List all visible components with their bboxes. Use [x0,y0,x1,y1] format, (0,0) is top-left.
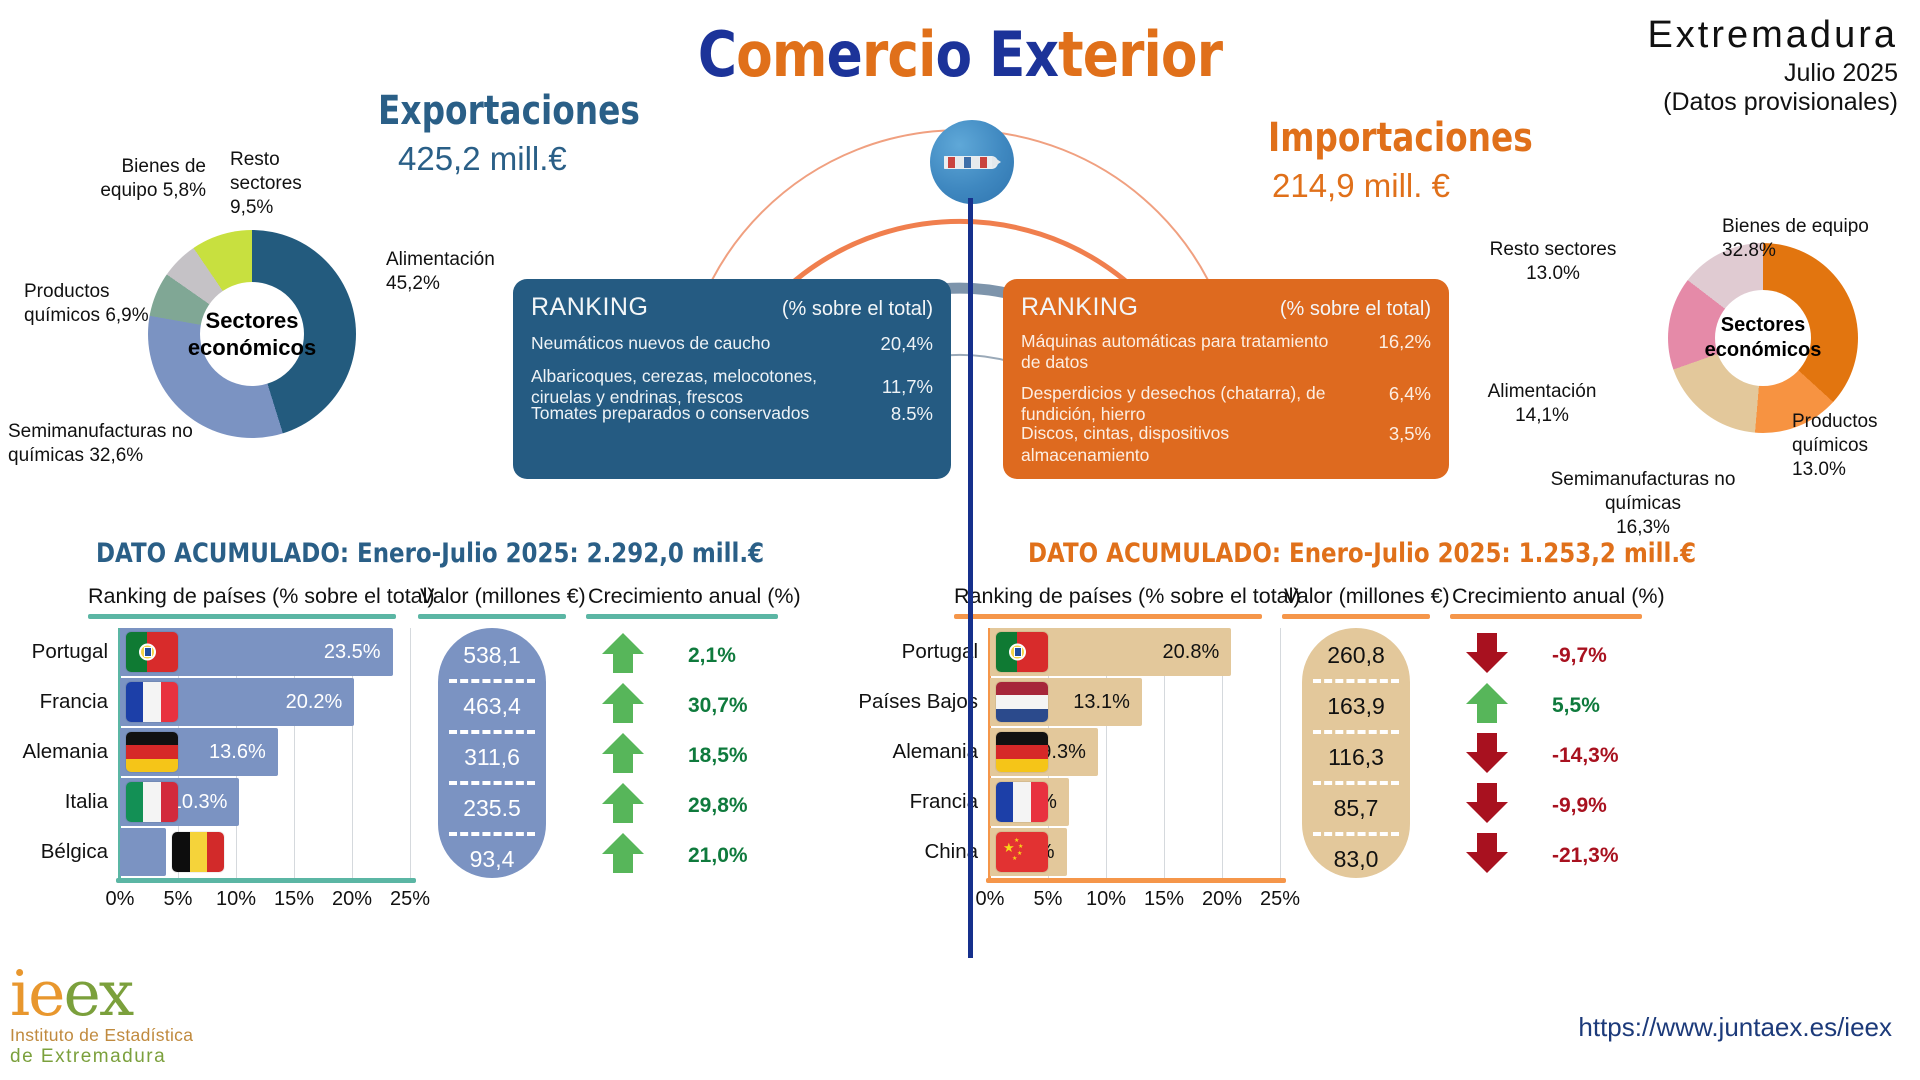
pill-divider [449,730,535,734]
donut-center-line1: Sectores [1721,314,1806,336]
col-rule [418,614,566,619]
growth-row: 21,0% [600,830,748,881]
exports-country-barchart: Portugal 23.5% Francia 20.2% Alemania 13… [0,628,420,890]
donut-label-quimicos: Productos químicos13.0% [1792,410,1920,481]
donut-label-resto: Resto sectores13.0% [1468,238,1638,286]
country-value: 85,7 [1334,795,1379,822]
axis-tick: 15% [1144,888,1184,911]
ranking-row: Tomates preparados o conservados 8.5% [531,403,933,425]
exports-value-pill: 538,1463,4311,6235.593,4 [438,628,546,878]
col-rule [954,614,1262,619]
country-label: Portugal [902,640,978,664]
donut-center-line1: Sectores [206,308,299,333]
arrow-up-icon [600,630,646,681]
axis-tick: 10% [1086,888,1126,911]
axis-tick: 15% [274,888,314,911]
growth-value: 21,0% [688,844,748,868]
growth-value: 30,7% [688,694,748,718]
x-axis [116,878,416,883]
exports-title: Exportaciones [378,88,640,134]
exports-total-value: 425,2 mill.€ [398,140,567,178]
logo-line2: de Extremadura [10,1046,193,1068]
growth-row: 30,7% [600,680,748,731]
flag-netherlands [996,682,1048,722]
arrow-up-icon [600,780,646,831]
pill-divider [1313,781,1399,785]
donut-label-alimentacion: Alimentación14,1% [1462,380,1622,428]
region-note: (Datos provisionales) [1647,88,1898,117]
ranking-subtitle: (% sobre el total) [782,298,933,321]
growth-value: -9,7% [1552,644,1607,668]
country-label: Bélgica [41,840,108,864]
country-label: Portugal [32,640,108,664]
pill-divider [449,832,535,836]
growth-value: 29,8% [688,794,748,818]
country-label: Países Bajos [858,690,978,714]
country-value: 116,3 [1328,744,1384,771]
gridline [1280,628,1281,878]
table-row: Alemania 13.6% [120,728,410,776]
region-period: Julio 2025 [1647,59,1898,88]
col-rule [88,614,396,619]
axis-tick: 20% [332,888,372,911]
country-value: 83,0 [1334,846,1379,873]
pill-divider [449,781,535,785]
region-block: Extremadura Julio 2025 (Datos provisiona… [1647,14,1898,117]
donut-label-semimanufacturas: Semimanufacturas no químicas 32,6% [8,420,218,468]
growth-value: 2,1% [688,644,736,668]
country-value: 93,4 [470,846,515,873]
imports-country-barchart: Portugal 20.8% Países Bajos 13.1% Aleman… [870,628,1290,890]
growth-row: -21,3% [1464,830,1619,881]
col-rule [1282,614,1430,619]
country-value: 463,4 [463,693,521,720]
growth-value: 5,5% [1552,694,1600,718]
col-head-growth: Crecimiento anual (%) [588,584,801,609]
country-value: 260,8 [1327,642,1385,669]
country-bar [120,828,166,876]
cargo-ship-icon [930,120,1014,204]
arrow-up-icon [600,680,646,731]
donut-center-line2: económicos [1705,339,1822,361]
country-value: 235.5 [463,795,521,822]
ranking-subtitle: (% sobre el total) [1280,298,1431,321]
ieex-logo: ieex Instituto de Estadística de Extrema… [10,964,193,1068]
arrow-down-icon [1464,630,1510,681]
donut-label-resto: Resto sectores 9,5% [230,148,340,219]
arrow-down-icon [1464,830,1510,881]
axis-tick: 25% [1260,888,1300,911]
table-row: Francia 20.2% [120,678,410,726]
infographic-page: Comercio Exterior Extremadura Julio 2025… [0,0,1920,1080]
pill-divider [1313,730,1399,734]
col-head-ranking: Ranking de países (% sobre el total) [88,584,435,609]
donut-label-bienes-equipo: Bienes de equipo 5,8% [86,155,206,203]
donut-label-semimanufacturas: Semimanufacturas no químicas16,3% [1518,468,1768,539]
pill-divider [449,679,535,683]
page-title: Comercio Exterior [134,18,1785,91]
flag-france [996,782,1048,822]
country-label: Francia [40,690,108,714]
imports-title: Importaciones [1268,115,1533,161]
growth-value: 18,5% [688,744,748,768]
col-head-ranking: Ranking de países (% sobre el total) [954,584,1301,609]
logo-mark: ieex [10,964,193,1024]
arrow-up-icon [600,730,646,781]
col-rule [1450,614,1642,619]
growth-row: -9,7% [1464,630,1607,681]
imports-ranking-box: RANKING (% sobre el total) Máquinas auto… [1003,279,1449,479]
table-row: China 6.6% ★ ★ ★ ★ ★ [990,828,1280,876]
flag-germany [126,732,178,772]
table-row: Bélgica [120,828,410,876]
ranking-row: Máquinas automáticas para tratamiento de… [1021,331,1431,374]
flag-china: ★ ★ ★ ★ ★ [996,832,1048,872]
arrow-up-icon [600,830,646,881]
country-label: Alemania [23,740,108,764]
ranking-title: RANKING [531,293,648,322]
growth-value: -21,3% [1552,844,1619,868]
site-url[interactable]: https://www.juntaex.es/ieex [1578,1012,1892,1043]
axis-tick: 5% [1034,888,1063,911]
flag-france [126,682,178,722]
growth-value: -14,3% [1552,744,1619,768]
donut-center-line2: económicos [188,335,316,360]
arrow-down-icon [1464,730,1510,781]
col-head-growth: Crecimiento anual (%) [1452,584,1665,609]
col-rule [586,614,778,619]
ranking-row: Neumáticos nuevos de caucho 20,4% [531,333,933,355]
region-name: Extremadura [1647,14,1898,57]
exports-ranking-box: RANKING (% sobre el total) Neumáticos nu… [513,279,951,479]
growth-row: 5,5% [1464,680,1600,731]
axis-tick: 5% [164,888,193,911]
table-row: Italia 10.3% [120,778,410,826]
col-head-value: Valor (millones €) [1284,584,1450,609]
pill-divider [1313,679,1399,683]
growth-value: -9,9% [1552,794,1607,818]
x-axis [986,878,1286,883]
axis-tick: 0% [976,888,1005,911]
table-row: Alemania 9.3% [990,728,1280,776]
growth-row: -9,9% [1464,780,1607,831]
center-divider [968,198,973,958]
flag-italy [126,782,178,822]
axis-tick: 10% [216,888,256,911]
country-value: 163,9 [1327,693,1385,720]
exports-sector-donut: Sectores económicos [148,230,356,438]
ranking-title: RANKING [1021,293,1138,322]
donut-label-bienes-equipo: Bienes de equipo32.8% [1722,215,1920,263]
ranking-row: Discos, cintas, dispositivos almacenamie… [1021,423,1431,466]
donut-label-quimicos: Productos químicos 6,9% [24,280,174,328]
table-row: Portugal 23.5% [120,628,410,676]
pill-divider [1313,832,1399,836]
logo-line1: Instituto de Estadística [10,1025,193,1046]
flag-portugal [126,632,178,672]
imports-total-value: 214,9 mill. € [1272,167,1450,205]
ranking-row: Desperdicios y desechos (chatarra), de f… [1021,383,1431,426]
imports-accumulated-title: DATO ACUMULADO: Enero-Julio 2025: 1.253,… [1028,538,1696,569]
arrow-down-icon [1464,780,1510,831]
growth-row: -14,3% [1464,730,1619,781]
gridline [410,628,411,878]
col-head-value: Valor (millones €) [420,584,586,609]
axis-tick: 25% [390,888,430,911]
flag-belgium [172,832,224,872]
country-label: Italia [65,790,108,814]
imports-sector-donut: Sectores económicos [1668,243,1858,433]
country-label: Alemania [893,740,978,764]
arrow-up-icon [1464,680,1510,731]
country-value: 311,6 [464,744,520,771]
axis-tick: 0% [106,888,135,911]
growth-row: 2,1% [600,630,736,681]
growth-row: 29,8% [600,780,748,831]
imports-value-pill: 260,8163,9116,385,783,0 [1302,628,1410,878]
axis-tick: 20% [1202,888,1242,911]
table-row: Países Bajos 13.1% [990,678,1280,726]
growth-row: 18,5% [600,730,748,781]
exports-accumulated-title: DATO ACUMULADO: Enero-Julio 2025: 2.292,… [96,538,764,569]
table-row: Portugal 20.8% [990,628,1280,676]
country-value: 538,1 [463,642,521,669]
flag-germany [996,732,1048,772]
flag-portugal [996,632,1048,672]
table-row: Francia 6.8% [990,778,1280,826]
